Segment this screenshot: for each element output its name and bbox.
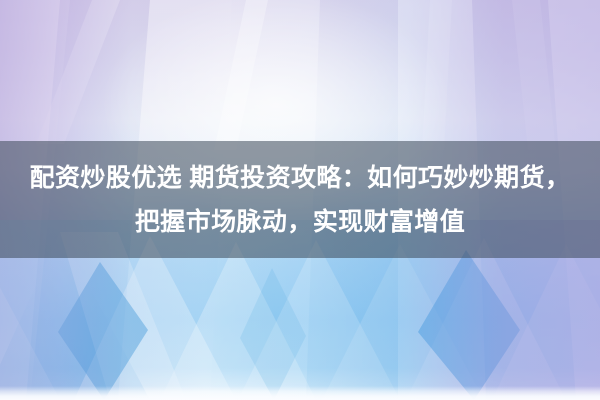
article-banner-image: 配资炒股优选 期货投资攻略：如何巧妙炒期货， 把握市场脉动，实现财富增值 bbox=[0, 0, 600, 400]
caption-line-2: 把握市场脉动，实现财富增值 bbox=[135, 200, 465, 244]
bottom-light-strip bbox=[0, 386, 600, 400]
caption-overlay-band: 配资炒股优选 期货投资攻略：如何巧妙炒期货， 把握市场脉动，实现财富增值 bbox=[0, 141, 600, 258]
caption-line-1: 配资炒股优选 期货投资攻略：如何巧妙炒期货， bbox=[30, 156, 571, 200]
